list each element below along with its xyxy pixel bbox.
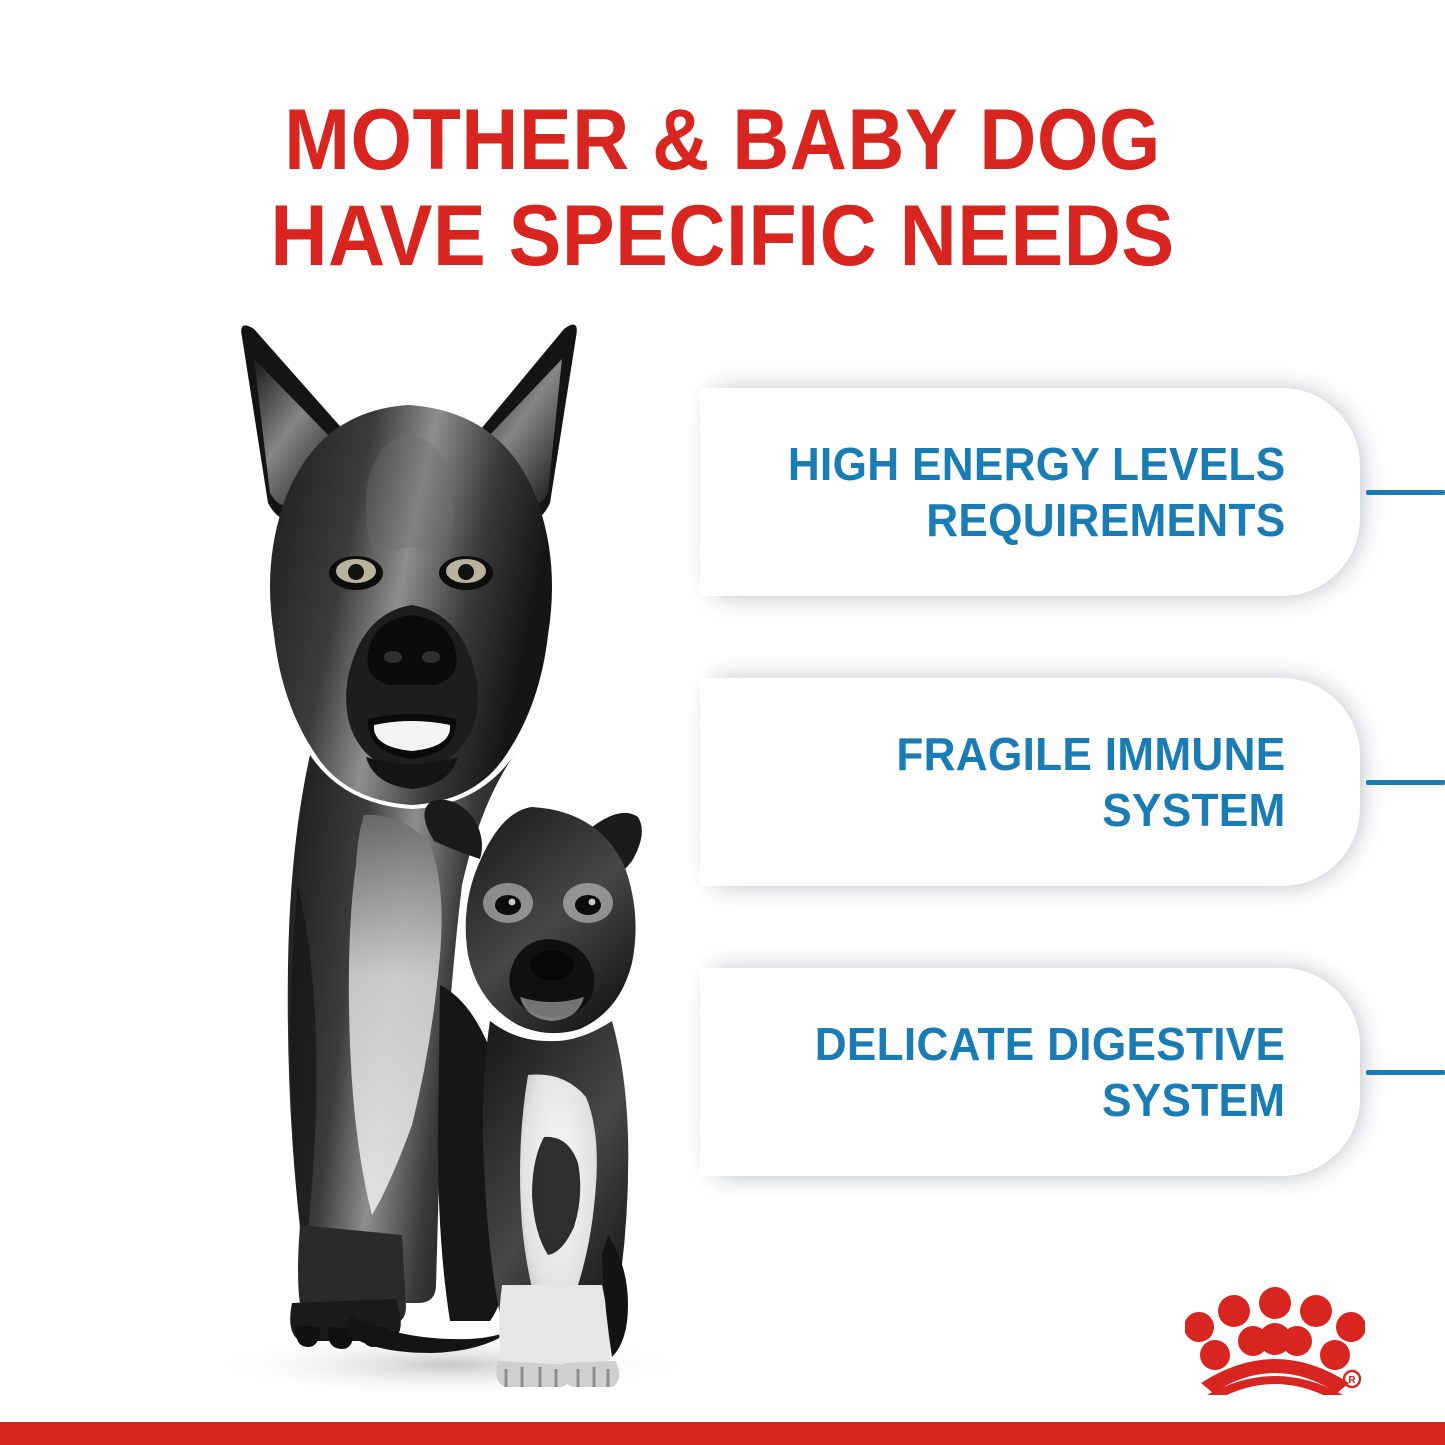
leader-line-2 [1366,780,1445,785]
callout-card-fragile-immune-system[interactable]: FRAGILE IMMUNE SYSTEM [700,678,1360,886]
headline-line-2: HAVE SPECIFIC NEEDS [58,188,1387,284]
callout-line-1: FRAGILE IMMUNE [896,726,1285,782]
page-title: MOTHER & BABY DOG HAVE SPECIFIC NEEDS [58,92,1387,285]
leader-line-3 [1366,1070,1445,1075]
callout-card-delicate-digestive-system[interactable]: DELICATE DIGESTIVE SYSTEM [700,968,1360,1176]
callout-text: DELICATE DIGESTIVE SYSTEM [815,1016,1360,1128]
leader-line-1 [1366,490,1445,495]
dog-photograph [150,285,725,1400]
bottom-accent-bar [0,1422,1445,1445]
callout-line-2: REQUIREMENTS [788,492,1286,548]
headline-line-1: MOTHER & BABY DOG [58,92,1387,188]
callout-text: HIGH ENERGY LEVELS REQUIREMENTS [788,436,1360,548]
poster-canvas: MOTHER & BABY DOG HAVE SPECIFIC NEEDS [0,0,1445,1445]
callout-line-2: SYSTEM [815,1072,1286,1128]
callout-card-high-energy-levels-requirements[interactable]: HIGH ENERGY LEVELS REQUIREMENTS [700,388,1360,596]
callout-text: FRAGILE IMMUNE SYSTEM [896,726,1360,838]
registered-mark-icon: R [1344,1371,1360,1387]
callout-line-1: HIGH ENERGY LEVELS [788,436,1286,492]
royal-canin-crown-logo: R [1185,1283,1365,1395]
callout-line-1: DELICATE DIGESTIVE [815,1016,1286,1072]
callout-line-2: SYSTEM [896,782,1285,838]
svg-text:R: R [1348,1375,1356,1386]
